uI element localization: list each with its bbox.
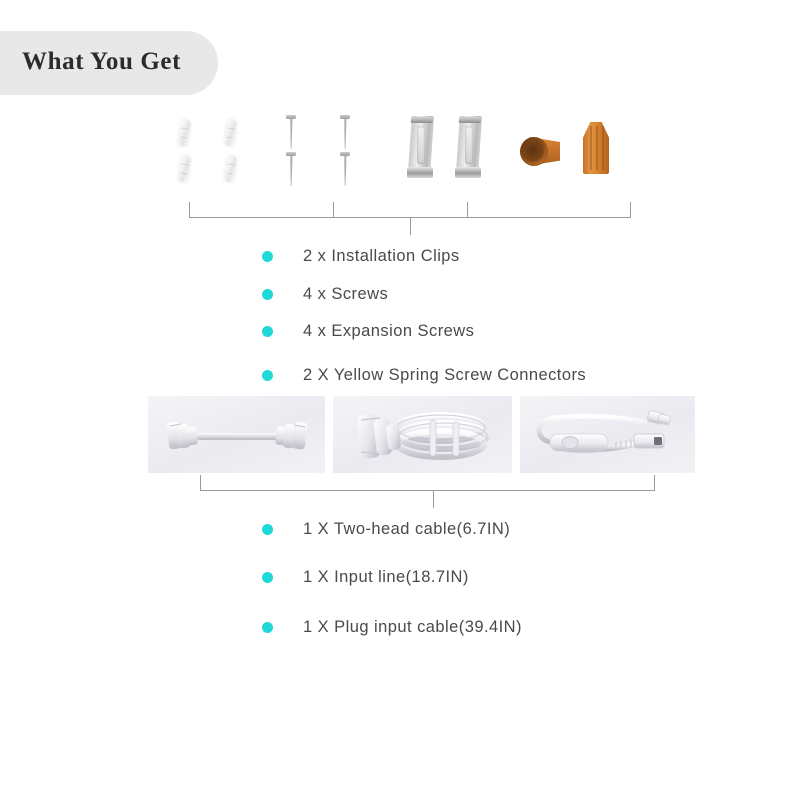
list-item: 4 x Expansion Screws — [262, 320, 474, 342]
screw-icon — [340, 152, 350, 186]
installation-clips-group — [400, 112, 510, 198]
expansion-anchors-group — [168, 112, 248, 198]
two-head-cable-photo — [148, 396, 325, 473]
wire-nut-icon — [583, 122, 609, 174]
list-item: 2 X Yellow Spring Screw Connectors — [262, 364, 586, 386]
bullet-icon — [262, 326, 273, 337]
plug-input-cable-photo — [520, 396, 695, 473]
wire-connectors-group — [515, 112, 640, 198]
bullet-icon — [262, 251, 273, 262]
list-item-label: 1 X Two-head cable(6.7IN) — [303, 520, 510, 539]
list-item: 2 x Installation Clips — [262, 245, 460, 267]
bullet-icon — [262, 524, 273, 535]
bullet-icon — [262, 370, 273, 381]
screw-icon — [286, 152, 296, 186]
anchor-icon — [224, 120, 237, 147]
anchor-icon — [224, 156, 237, 183]
list-item-label: 4 x Expansion Screws — [303, 322, 474, 341]
page-title: What You Get — [22, 48, 181, 76]
clip-icon — [408, 116, 434, 182]
screw-icon — [340, 115, 350, 149]
bullet-icon — [262, 572, 273, 583]
list-item-label: 1 X Input line(18.7IN) — [303, 568, 469, 587]
anchor-icon — [178, 156, 191, 183]
wire-nut-icon — [520, 135, 560, 169]
list-item-label: 2 X Yellow Spring Screw Connectors — [303, 366, 586, 385]
list-item-label: 2 x Installation Clips — [303, 247, 460, 266]
list-item-label: 1 X Plug input cable(39.4IN) — [303, 618, 522, 637]
list-item: 4 x Screws — [262, 283, 388, 305]
bullet-icon — [262, 289, 273, 300]
hardware-parts-row — [160, 112, 640, 198]
anchor-icon — [178, 120, 191, 147]
list-item: 1 X Input line(18.7IN) — [262, 566, 469, 588]
input-line-photo — [333, 396, 512, 473]
bullet-icon — [262, 622, 273, 633]
clip-icon — [456, 116, 482, 182]
screw-icon — [286, 115, 296, 149]
screws-group — [280, 112, 370, 198]
list-item: 1 X Plug input cable(39.4IN) — [262, 616, 522, 638]
list-item: 1 X Two-head cable(6.7IN) — [262, 518, 510, 540]
list-item-label: 4 x Screws — [303, 285, 388, 304]
